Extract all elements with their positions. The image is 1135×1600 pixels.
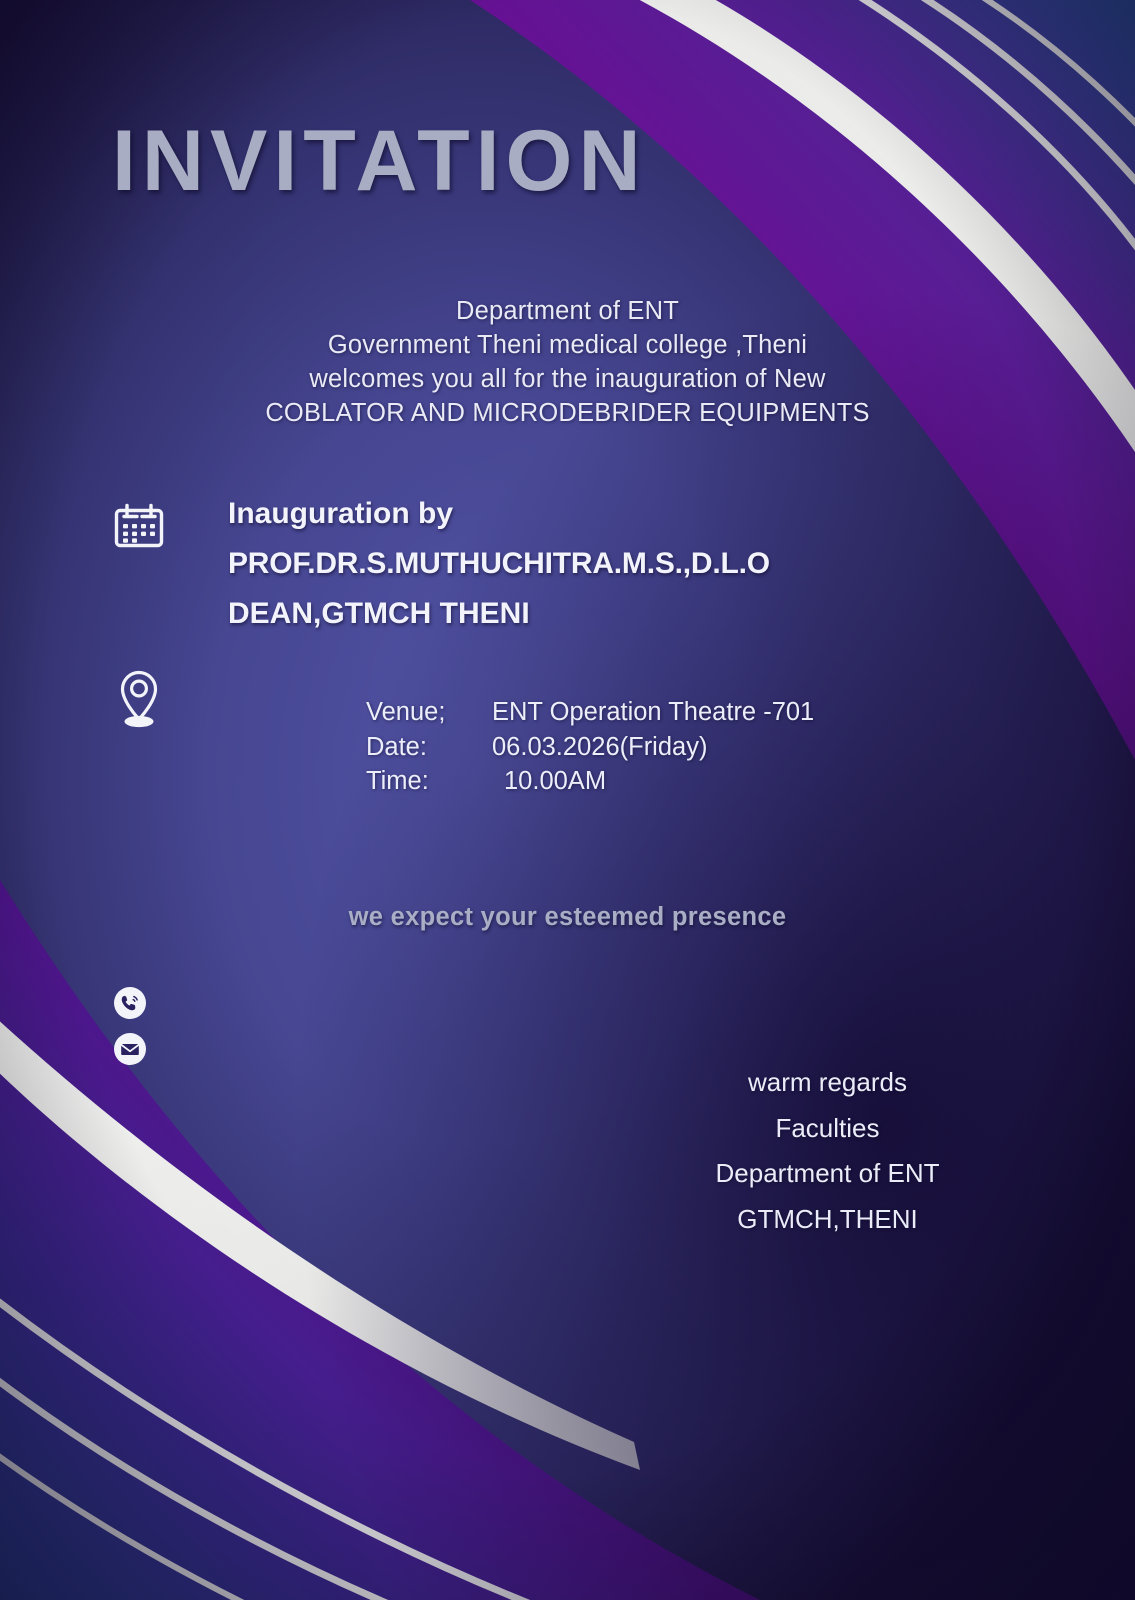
intro-block: Department of ENT Government Theni medic… — [0, 294, 1135, 430]
page-title: INVITATION — [112, 118, 647, 204]
venue-label: Venue; — [366, 695, 492, 730]
date-label: Date: — [366, 730, 492, 765]
regards-line-1: warm regards — [555, 1060, 1100, 1106]
calendar-icon — [110, 497, 168, 555]
intro-line-3: welcomes you all for the inauguration of… — [0, 362, 1135, 396]
location-pin-icon — [113, 668, 165, 730]
regards-block: warm regards Faculties Department of ENT… — [555, 1060, 1100, 1242]
intro-line-1: Department of ENT — [0, 294, 1135, 328]
detail-row-venue: Venue; ENT Operation Theatre -701 — [366, 695, 814, 730]
regards-line-2: Faculties — [555, 1106, 1100, 1152]
intro-line-2: Government Theni medical college ,Theni — [0, 328, 1135, 362]
invitation-poster: INVITATION Department of ENT Government … — [0, 0, 1135, 1600]
regards-line-4: GTMCH,THENI — [555, 1197, 1100, 1243]
time-value: 10.00AM — [492, 764, 606, 799]
mail-icon — [113, 1032, 147, 1066]
tagline: we expect your esteemed presence — [0, 903, 1135, 932]
time-label: Time: — [366, 764, 492, 799]
inauguration-name: PROF.DR.S.MUTHUCHITRA.M.S.,D.L.O — [228, 539, 770, 589]
date-value: 06.03.2026(Friday) — [492, 730, 707, 765]
venue-value: ENT Operation Theatre -701 — [492, 695, 814, 730]
detail-row-time: Time: 10.00AM — [366, 764, 814, 799]
regards-line-3: Department of ENT — [555, 1151, 1100, 1197]
detail-row-date: Date: 06.03.2026(Friday) — [366, 730, 814, 765]
phone-icon — [113, 986, 147, 1020]
intro-line-4: COBLATOR AND MICRODEBRIDER EQUIPMENTS — [0, 396, 1135, 430]
event-details: Venue; ENT Operation Theatre -701 Date: … — [366, 695, 814, 799]
inauguration-designation: DEAN,GTMCH THENI — [228, 589, 770, 639]
inauguration-block: Inauguration by PROF.DR.S.MUTHUCHITRA.M.… — [228, 489, 770, 639]
inauguration-heading: Inauguration by — [228, 489, 770, 539]
